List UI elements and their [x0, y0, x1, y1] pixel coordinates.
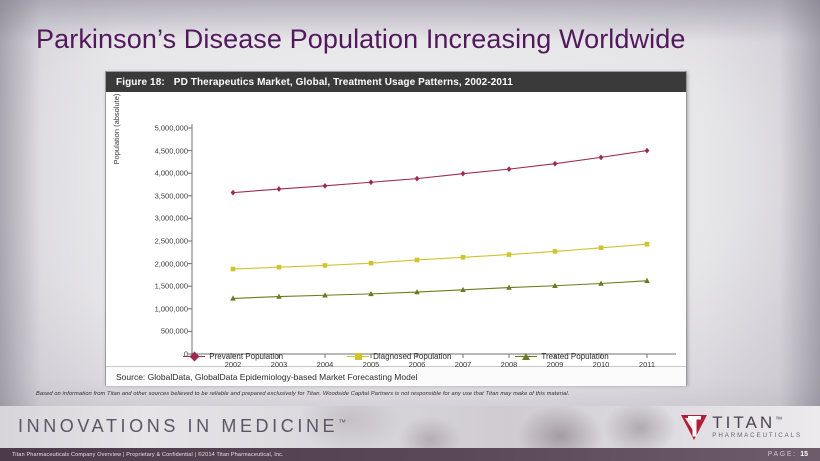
titan-wordmark: TITAN™ PHARMACEUTICALS	[712, 414, 802, 439]
legend-item[interactable]: Prevalent Population	[183, 352, 283, 361]
titan-triangle-icon	[679, 412, 709, 442]
slide-canvas: Parkinson’s Disease Population Increasin…	[0, 0, 820, 461]
series-marker	[277, 186, 282, 192]
series-marker	[323, 183, 328, 189]
page-indicator: PAGE: 15	[768, 451, 808, 458]
series-marker	[599, 154, 604, 160]
titan-subtitle: PHARMACEUTICALS	[712, 433, 802, 439]
series-marker	[323, 263, 328, 268]
series-marker	[553, 161, 558, 167]
trademark-symbol: ™	[338, 418, 346, 427]
figure-number: Figure 18:	[116, 77, 165, 88]
figure-header: Figure 18: PD Therapeutics Market, Globa…	[106, 72, 686, 92]
brand-tagline-text: INNOVATIONS IN MEDICINE	[18, 416, 338, 436]
titan-name: TITAN™	[712, 414, 802, 431]
series-marker	[231, 267, 236, 272]
legend-swatch-triangle-icon	[515, 352, 537, 361]
legend-label: Treated Population	[541, 352, 608, 361]
legend-swatch-square-icon	[347, 352, 369, 361]
legend-swatch-diamond-icon	[183, 352, 205, 361]
chart-plot-area: Population (absolute) 0500,0001,000,0001…	[106, 92, 686, 366]
series-marker	[645, 242, 650, 247]
page-title: Parkinson’s Disease Population Increasin…	[36, 24, 685, 55]
chart-legend: Prevalent PopulationDiagnosed Population…	[106, 352, 686, 361]
legend-item[interactable]: Diagnosed Population	[347, 352, 451, 361]
titan-logo: TITAN™ PHARMACEUTICALS	[679, 412, 802, 442]
series-marker	[461, 171, 466, 177]
page-number: 15	[800, 451, 808, 458]
page-label-text: PAGE:	[768, 451, 797, 458]
figure-caption: PD Therapeutics Market, Global, Treatmen…	[174, 77, 513, 88]
legend-label: Diagnosed Population	[373, 352, 451, 361]
series-line	[233, 244, 647, 269]
titan-tm: ™	[775, 417, 782, 424]
legend-item[interactable]: Treated Population	[515, 352, 608, 361]
series-marker	[231, 190, 236, 196]
series-marker	[599, 245, 604, 250]
series-marker	[645, 148, 650, 154]
legend-label: Prevalent Population	[209, 352, 283, 361]
titan-name-text: TITAN	[712, 413, 775, 432]
figure-source: Source: GlobalData, GlobalData Epidemiol…	[106, 366, 686, 386]
series-marker	[507, 252, 512, 257]
series-marker	[553, 249, 558, 254]
brand-tagline: INNOVATIONS IN MEDICINE™	[18, 416, 346, 437]
series-marker	[369, 261, 374, 266]
bottom-brand-band: INNOVATIONS IN MEDICINE™ TITAN™ PHARMACE…	[0, 406, 820, 461]
series-marker	[277, 265, 282, 270]
footer-copyright: Titan Pharmaceuticals Company Overview |…	[0, 452, 284, 458]
series-marker	[415, 258, 420, 263]
series-marker	[369, 179, 374, 185]
figure-panel: Figure 18: PD Therapeutics Market, Globa…	[105, 71, 687, 385]
footer-strip: Titan Pharmaceuticals Company Overview |…	[0, 448, 820, 461]
line-chart-svg	[106, 92, 688, 366]
series-marker	[507, 166, 512, 172]
disclaimer-text: Based on information from Titan and othe…	[36, 391, 570, 397]
series-line	[233, 151, 647, 193]
series-line	[233, 281, 647, 299]
series-marker	[415, 176, 420, 182]
series-marker	[461, 255, 466, 260]
